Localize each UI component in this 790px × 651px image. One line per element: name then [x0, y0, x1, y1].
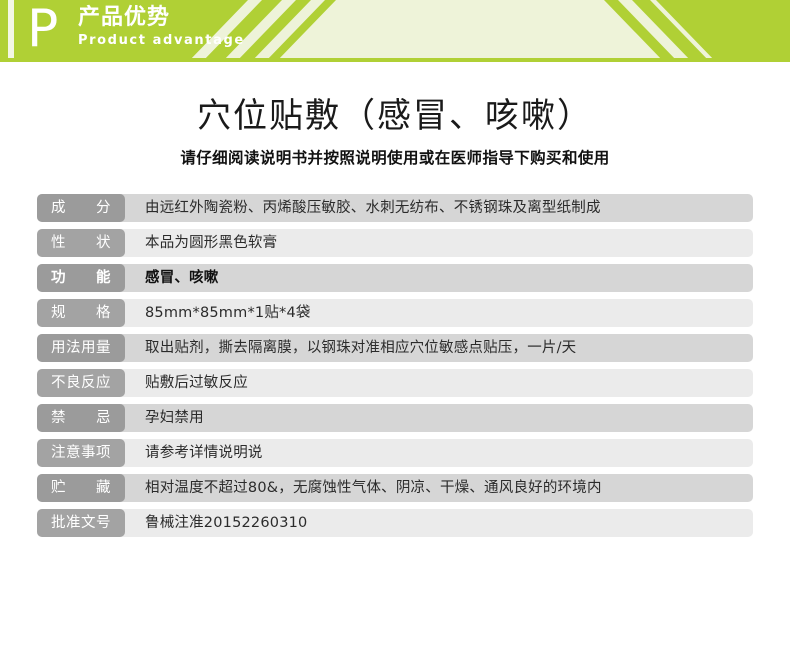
spec-label-gongneng: 功 能 [37, 264, 125, 292]
spec-label-zhucang: 贮 藏 [37, 474, 125, 502]
banner-title-en: Product advantage [78, 33, 245, 49]
spec-label-pizhunwenhao: 批准文号 [37, 509, 125, 537]
table-row: 不良反应 贴敷后过敏反应 [37, 369, 753, 397]
banner-logo-letter: P [27, 0, 58, 60]
page-header-banner: P 产品优势 Product advantage [0, 0, 790, 62]
specification-table: 成 分 由远红外陶瓷粉、丙烯酸压敏胶、水刺无纺布、不锈钢珠及离型纸制成 性 状 … [37, 194, 753, 537]
spec-value-pizhunwenhao: 鲁械注准20152260310 [145, 509, 307, 537]
table-row: 用法用量 取出贴剂，撕去隔离膜，以钢珠对准相应穴位敏感点贴压，一片/天 [37, 334, 753, 362]
spec-value-xingzhuang: 本品为圆形黑色软膏 [145, 229, 277, 257]
title-block: 穴位贴敷（感冒、咳嗽） 请仔细阅读说明书并按照说明使用或在医师指导下购买和使用 [0, 62, 790, 170]
spec-label-yongfayongliang: 用法用量 [37, 334, 125, 362]
spec-value-guige: 85mm*85mm*1贴*4袋 [145, 299, 311, 327]
banner-title-cn: 产品优势 [78, 5, 170, 31]
spec-value-yongfayongliang: 取出贴剂，撕去隔离膜，以钢珠对准相应穴位敏感点贴压，一片/天 [145, 334, 576, 362]
spec-label-jinji: 禁 忌 [37, 404, 125, 432]
table-row: 注意事项 请参考详情说明说 [37, 439, 753, 467]
spec-value-buliangfanying: 贴敷后过敏反应 [145, 369, 248, 397]
spec-value-zhuyishixiang: 请参考详情说明说 [145, 439, 263, 467]
table-row: 成 分 由远红外陶瓷粉、丙烯酸压敏胶、水刺无纺布、不锈钢珠及离型纸制成 [37, 194, 753, 222]
product-detail-content: 穴位贴敷（感冒、咳嗽） 请仔细阅读说明书并按照说明使用或在医师指导下购买和使用 … [0, 62, 790, 651]
spec-value-jinji: 孕妇禁用 [145, 404, 204, 432]
table-row: 批准文号 鲁械注准20152260310 [37, 509, 753, 537]
page-title: 穴位贴敷（感冒、咳嗽） [0, 94, 790, 138]
table-row: 功 能 感冒、咳嗽 [37, 264, 753, 292]
table-row: 贮 藏 相对温度不超过80&，无腐蚀性气体、阴凉、干燥、通风良好的环境内 [37, 474, 753, 502]
spec-label-guige: 规 格 [37, 299, 125, 327]
table-row: 性 状 本品为圆形黑色软膏 [37, 229, 753, 257]
spec-value-chengfen: 由远红外陶瓷粉、丙烯酸压敏胶、水刺无纺布、不锈钢珠及离型纸制成 [145, 194, 601, 222]
spec-label-xingzhuang: 性 状 [37, 229, 125, 257]
spec-label-zhuyishixiang: 注意事项 [37, 439, 125, 467]
page-subtitle: 请仔细阅读说明书并按照说明使用或在医师指导下购买和使用 [0, 146, 790, 170]
table-row: 规 格 85mm*85mm*1贴*4袋 [37, 299, 753, 327]
table-row: 禁 忌 孕妇禁用 [37, 404, 753, 432]
spec-label-buliangfanying: 不良反应 [37, 369, 125, 397]
spec-value-zhucang: 相对温度不超过80&，无腐蚀性气体、阴凉、干燥、通风良好的环境内 [145, 474, 602, 502]
spec-label-chengfen: 成 分 [37, 194, 125, 222]
spec-value-gongneng: 感冒、咳嗽 [145, 264, 219, 292]
